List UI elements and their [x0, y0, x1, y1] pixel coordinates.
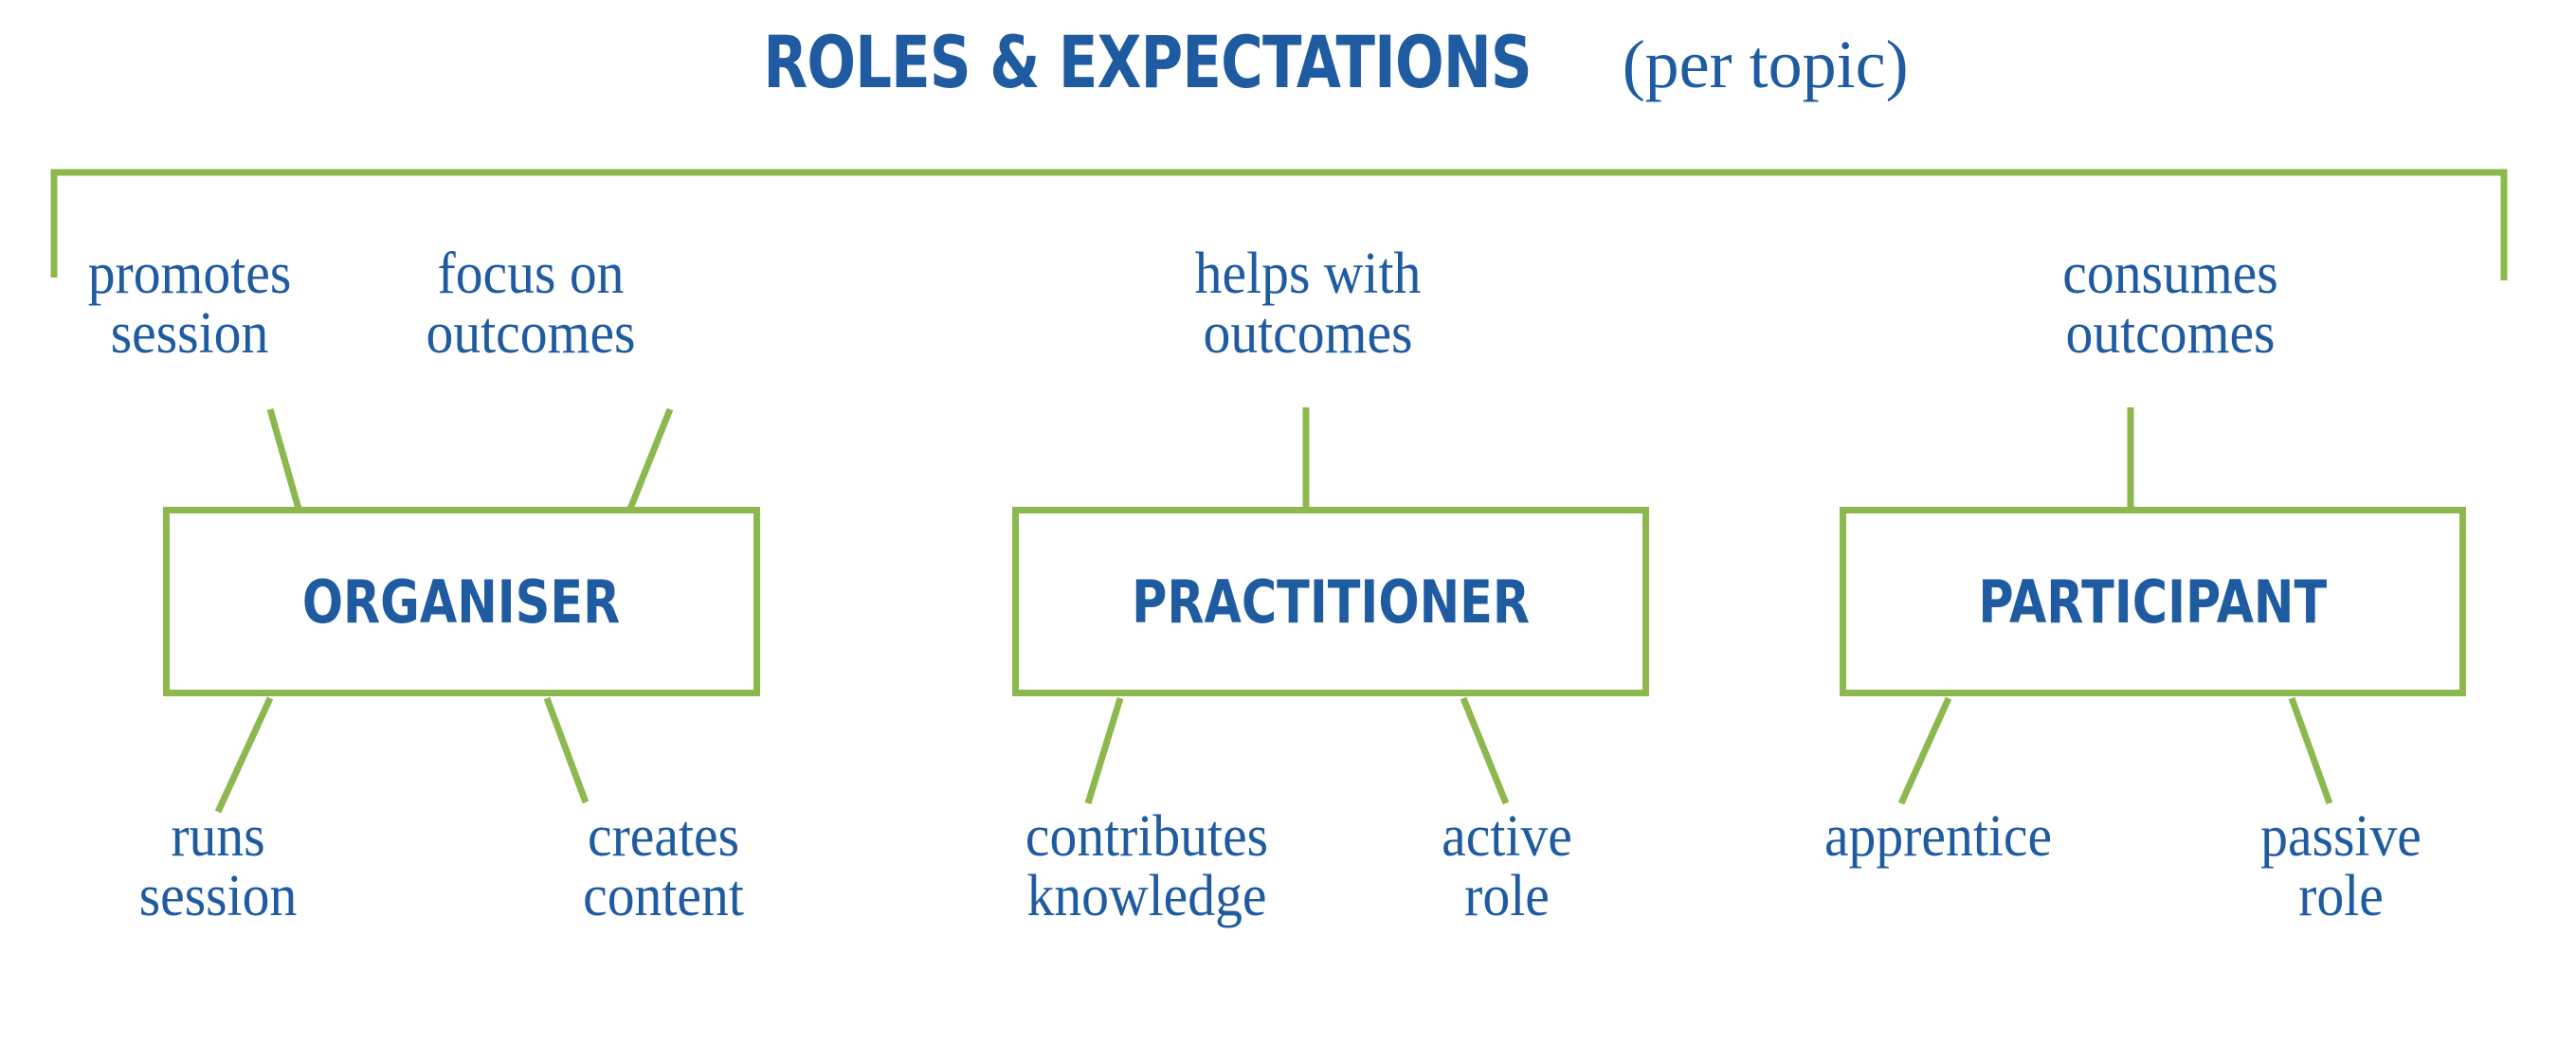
caption-promotes-session: promotes session [13, 244, 366, 364]
connector-apprentice [1901, 698, 1949, 803]
title-main-text: ROLES & EXPECTATIONS [764, 27, 1533, 99]
caption-contributes-knowledge: contributes knowledge [944, 807, 1350, 926]
connector-runs-session [218, 698, 270, 812]
connector-active-role [1463, 698, 1506, 803]
caption-active-role: active role [1375, 807, 1640, 926]
connector-promotes-session [270, 409, 299, 509]
caption-passive-role: passive role [2191, 807, 2491, 926]
connector-passive-role [2292, 698, 2330, 803]
diagram-canvas: ROLES & EXPECTATIONS(per topic) ORGAN [0, 0, 2576, 1061]
connector-focus-on-outcomes [630, 409, 670, 509]
role-label-practitioner: PRACTITIONER [1132, 567, 1530, 637]
title-subtitle-text: (per topic) [1623, 30, 1909, 99]
role-label-organiser: ORGANISER [302, 567, 620, 637]
role-box-organiser[interactable]: ORGANISER [163, 507, 760, 696]
caption-helps-with-outcomes: helps with outcomes [1132, 244, 1484, 364]
caption-apprentice: apprentice [1744, 807, 2132, 867]
caption-consumes-outcomes: consumes outcomes [1994, 244, 2347, 364]
caption-focus-on-outcomes: focus on outcomes [354, 244, 707, 364]
caption-creates-content: creates content [487, 807, 840, 926]
role-box-practitioner[interactable]: PRACTITIONER [1012, 507, 1649, 696]
role-box-participant[interactable]: PARTICIPANT [1840, 507, 2466, 696]
connector-contributes-knowledge [1088, 698, 1120, 803]
connector-creates-content [547, 698, 586, 802]
caption-runs-session: runs session [42, 807, 394, 926]
page-title: ROLES & EXPECTATIONS(per topic) [0, 27, 2576, 99]
role-label-participant: PARTICIPANT [1979, 567, 2328, 637]
